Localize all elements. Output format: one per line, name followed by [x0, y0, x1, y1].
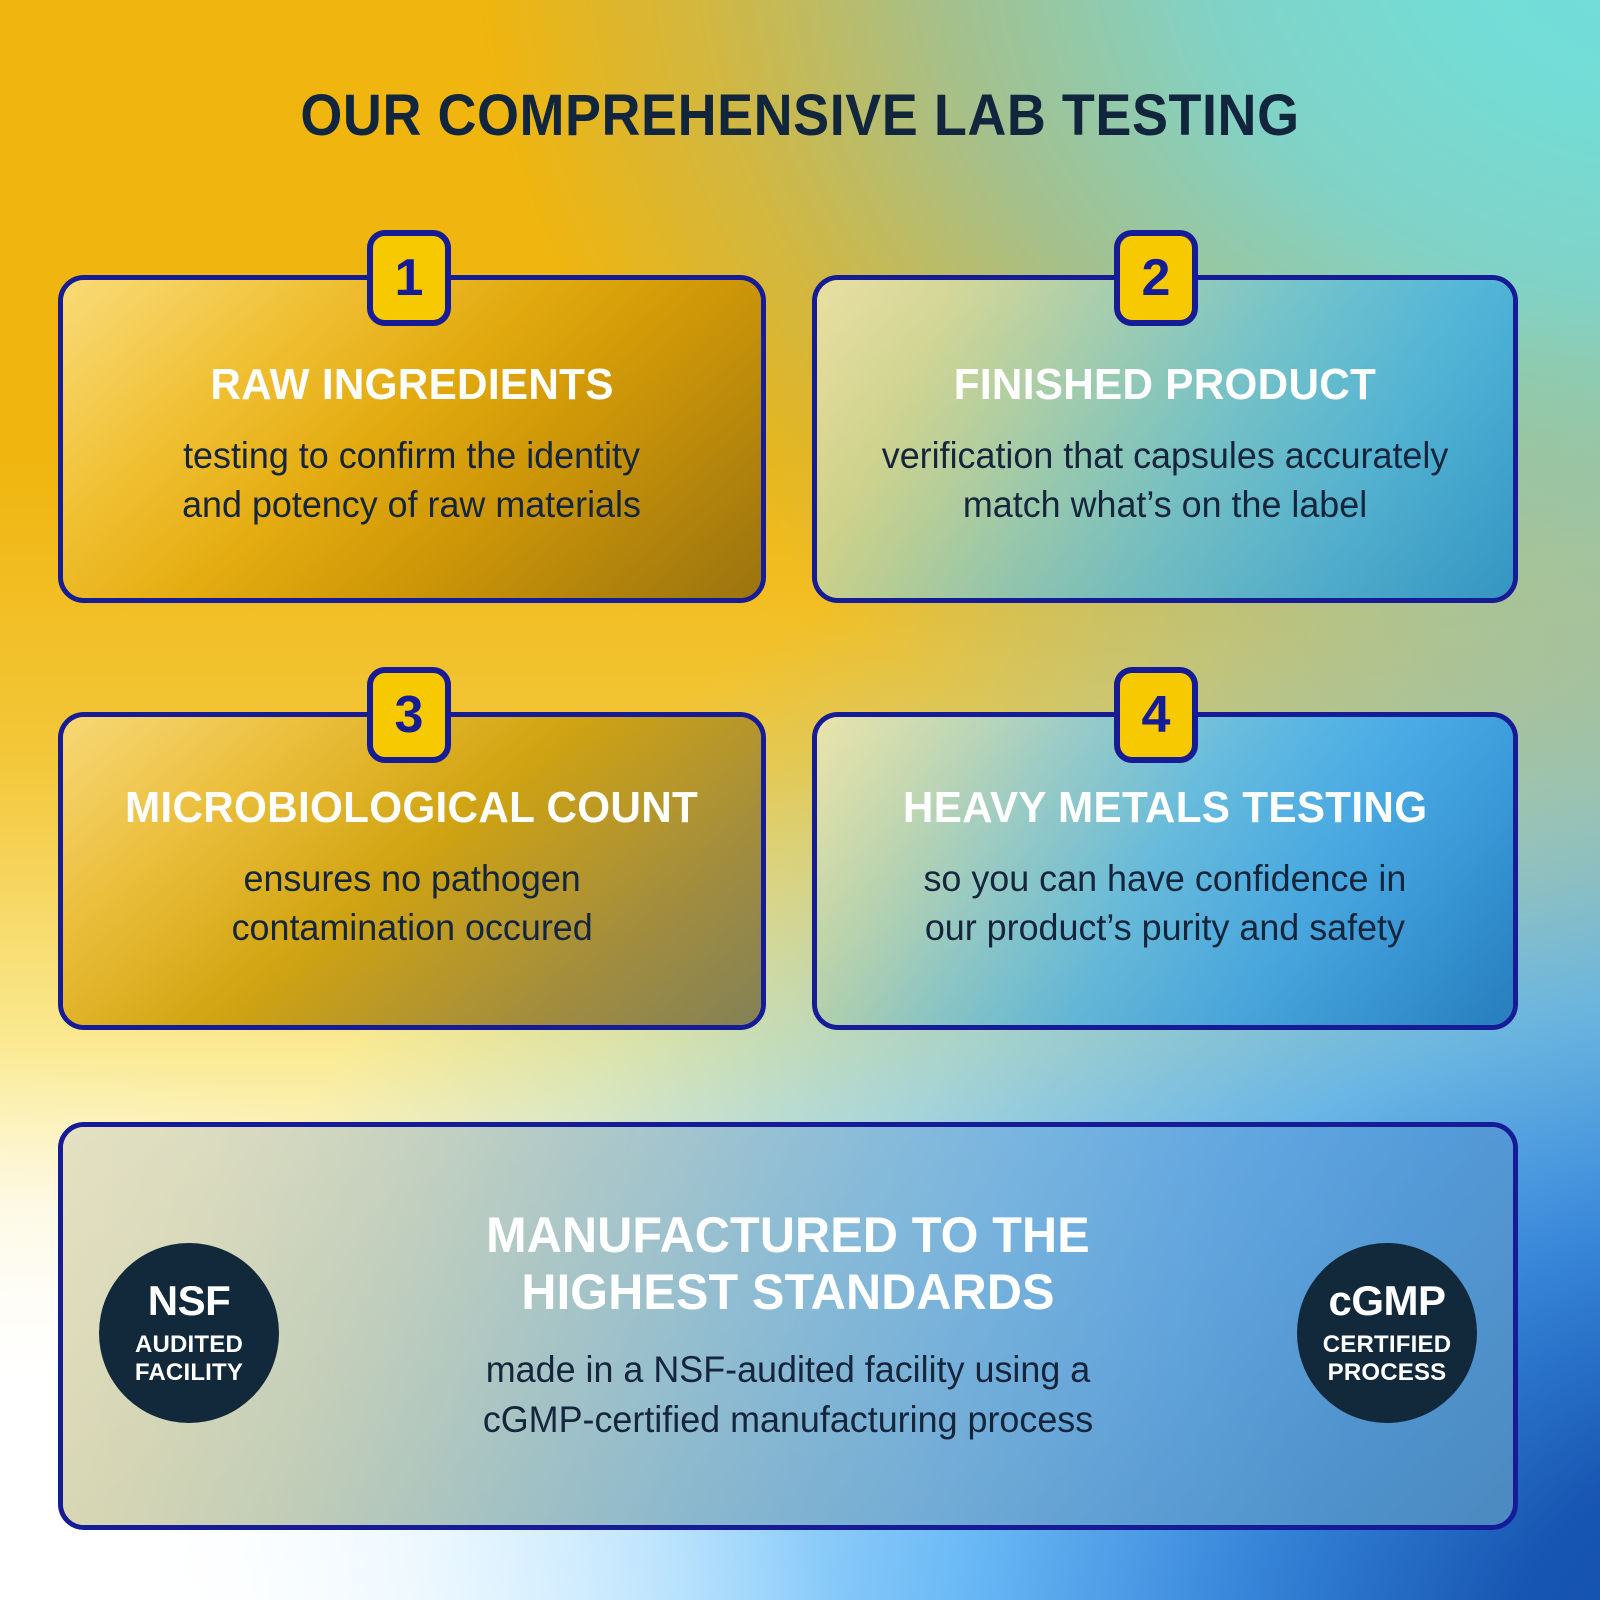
- card-body-line-2: and potency of raw materials: [183, 481, 642, 530]
- footer-heading-line-2: HIGHEST STANDARDS: [349, 1264, 1228, 1321]
- footer-body: made in a NSF-audited facility using a c…: [349, 1345, 1228, 1444]
- seal-sub-line-1: CERTIFIED: [1323, 1331, 1451, 1358]
- card-heading: MICROBIOLOGICAL COUNT: [125, 785, 698, 831]
- step-number-badge-3: 3: [367, 667, 451, 763]
- card-heading: FINISHED PRODUCT: [954, 362, 1376, 408]
- lab-testing-infographic: OUR COMPREHENSIVE LAB TESTING RAW INGRED…: [0, 0, 1600, 1600]
- card-manufacturing-standards: NSF AUDITED FACILITY MANUFACTURED TO THE…: [58, 1122, 1518, 1530]
- seal-sub-line-1: AUDITED: [135, 1331, 243, 1358]
- footer-body-line-2: cGMP-certified manufacturing process: [349, 1395, 1228, 1445]
- card-body: verification that capsules accurately ma…: [882, 432, 1449, 530]
- card-body-line-2: match what’s on the label: [882, 481, 1449, 530]
- footer-body-line-1: made in a NSF-audited facility using a: [349, 1345, 1228, 1395]
- seal-sub-line-2: PROCESS: [1323, 1359, 1451, 1386]
- card-body: ensures no pathogen contamination occure…: [231, 855, 592, 953]
- card-body-line-2: contamination occured: [231, 904, 592, 953]
- seal-main-label: NSF: [148, 1280, 231, 1322]
- seal-sub-line-2: FACILITY: [135, 1359, 243, 1386]
- step-number-badge-2: 2: [1114, 230, 1198, 326]
- card-body-line-2: our product’s purity and safety: [924, 904, 1407, 953]
- card-body-line-1: verification that capsules accurately: [882, 432, 1449, 481]
- seal-main-label: cGMP: [1328, 1280, 1445, 1322]
- footer-text-block: MANUFACTURED TO THE HIGHEST STANDARDS ma…: [329, 1207, 1247, 1444]
- seal-sub-label: CERTIFIED PROCESS: [1323, 1331, 1451, 1386]
- card-body: so you can have confidence in our produc…: [924, 855, 1407, 953]
- card-body-line-1: ensures no pathogen: [231, 855, 592, 904]
- step-number-badge-1: 1: [367, 230, 451, 326]
- card-heading: RAW INGREDIENTS: [210, 362, 613, 408]
- step-number-badge-4: 4: [1114, 667, 1198, 763]
- footer-heading: MANUFACTURED TO THE HIGHEST STANDARDS: [349, 1207, 1228, 1321]
- card-body-line-1: testing to confirm the identity: [183, 432, 642, 481]
- card-body-line-1: so you can have confidence in: [924, 855, 1407, 904]
- nsf-audited-facility-seal-icon: NSF AUDITED FACILITY: [99, 1243, 279, 1423]
- card-body: testing to confirm the identity and pote…: [183, 432, 642, 530]
- page-title: OUR COMPREHENSIVE LAB TESTING: [56, 82, 1544, 149]
- seal-sub-label: AUDITED FACILITY: [135, 1331, 243, 1386]
- card-heading: HEAVY METALS TESTING: [903, 785, 1427, 831]
- cgmp-certified-process-seal-icon: cGMP CERTIFIED PROCESS: [1297, 1243, 1477, 1423]
- footer-heading-line-1: MANUFACTURED TO THE: [349, 1207, 1228, 1264]
